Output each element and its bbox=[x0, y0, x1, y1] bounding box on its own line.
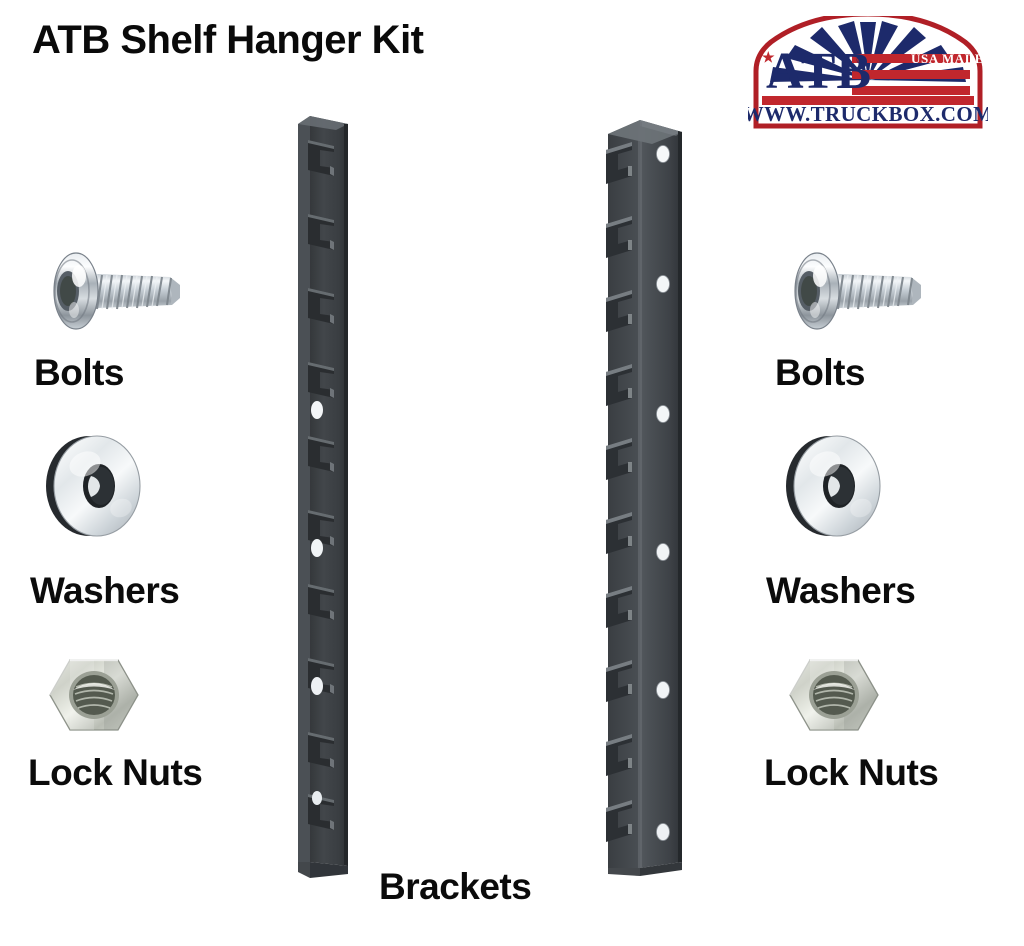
part-label-washers-right: Washers bbox=[766, 570, 915, 612]
hex-lock-nut-icon bbox=[786, 652, 882, 738]
page-title: ATB Shelf Hanger Kit bbox=[32, 18, 424, 63]
flat-washer-icon bbox=[33, 430, 159, 542]
part-label-bolts-right: Bolts bbox=[775, 352, 865, 394]
bolt-pan-head-icon bbox=[765, 243, 933, 339]
bracket-hole bbox=[311, 539, 323, 557]
product-diagram-canvas: ATB Shelf Hanger Kit bbox=[0, 0, 1024, 946]
bracket-hole bbox=[312, 791, 322, 805]
atb-truckbox-logo: ★ ATB ® USA MADE WWW.TRUCKBOX.COM bbox=[748, 16, 988, 132]
bracket-hole bbox=[311, 677, 323, 695]
shelf-hanger-bracket-right bbox=[602, 110, 694, 880]
part-label-washers-left: Washers bbox=[30, 570, 179, 612]
logo-tagline-text: USA MADE bbox=[911, 51, 984, 66]
hex-lock-nut-icon bbox=[46, 652, 142, 738]
part-label-bolts-left: Bolts bbox=[34, 352, 124, 394]
bracket-hole bbox=[311, 401, 323, 419]
shelf-hanger-bracket-left bbox=[290, 110, 360, 880]
bolt-pan-head-icon bbox=[24, 243, 192, 339]
part-label-locknuts-right: Lock Nuts bbox=[764, 752, 938, 794]
part-label-brackets: Brackets bbox=[379, 866, 531, 908]
logo-registered-icon: ® bbox=[856, 52, 866, 67]
part-label-locknuts-left: Lock Nuts bbox=[28, 752, 202, 794]
logo-website-text: WWW.TRUCKBOX.COM bbox=[748, 102, 988, 126]
flat-washer-icon bbox=[773, 430, 899, 542]
